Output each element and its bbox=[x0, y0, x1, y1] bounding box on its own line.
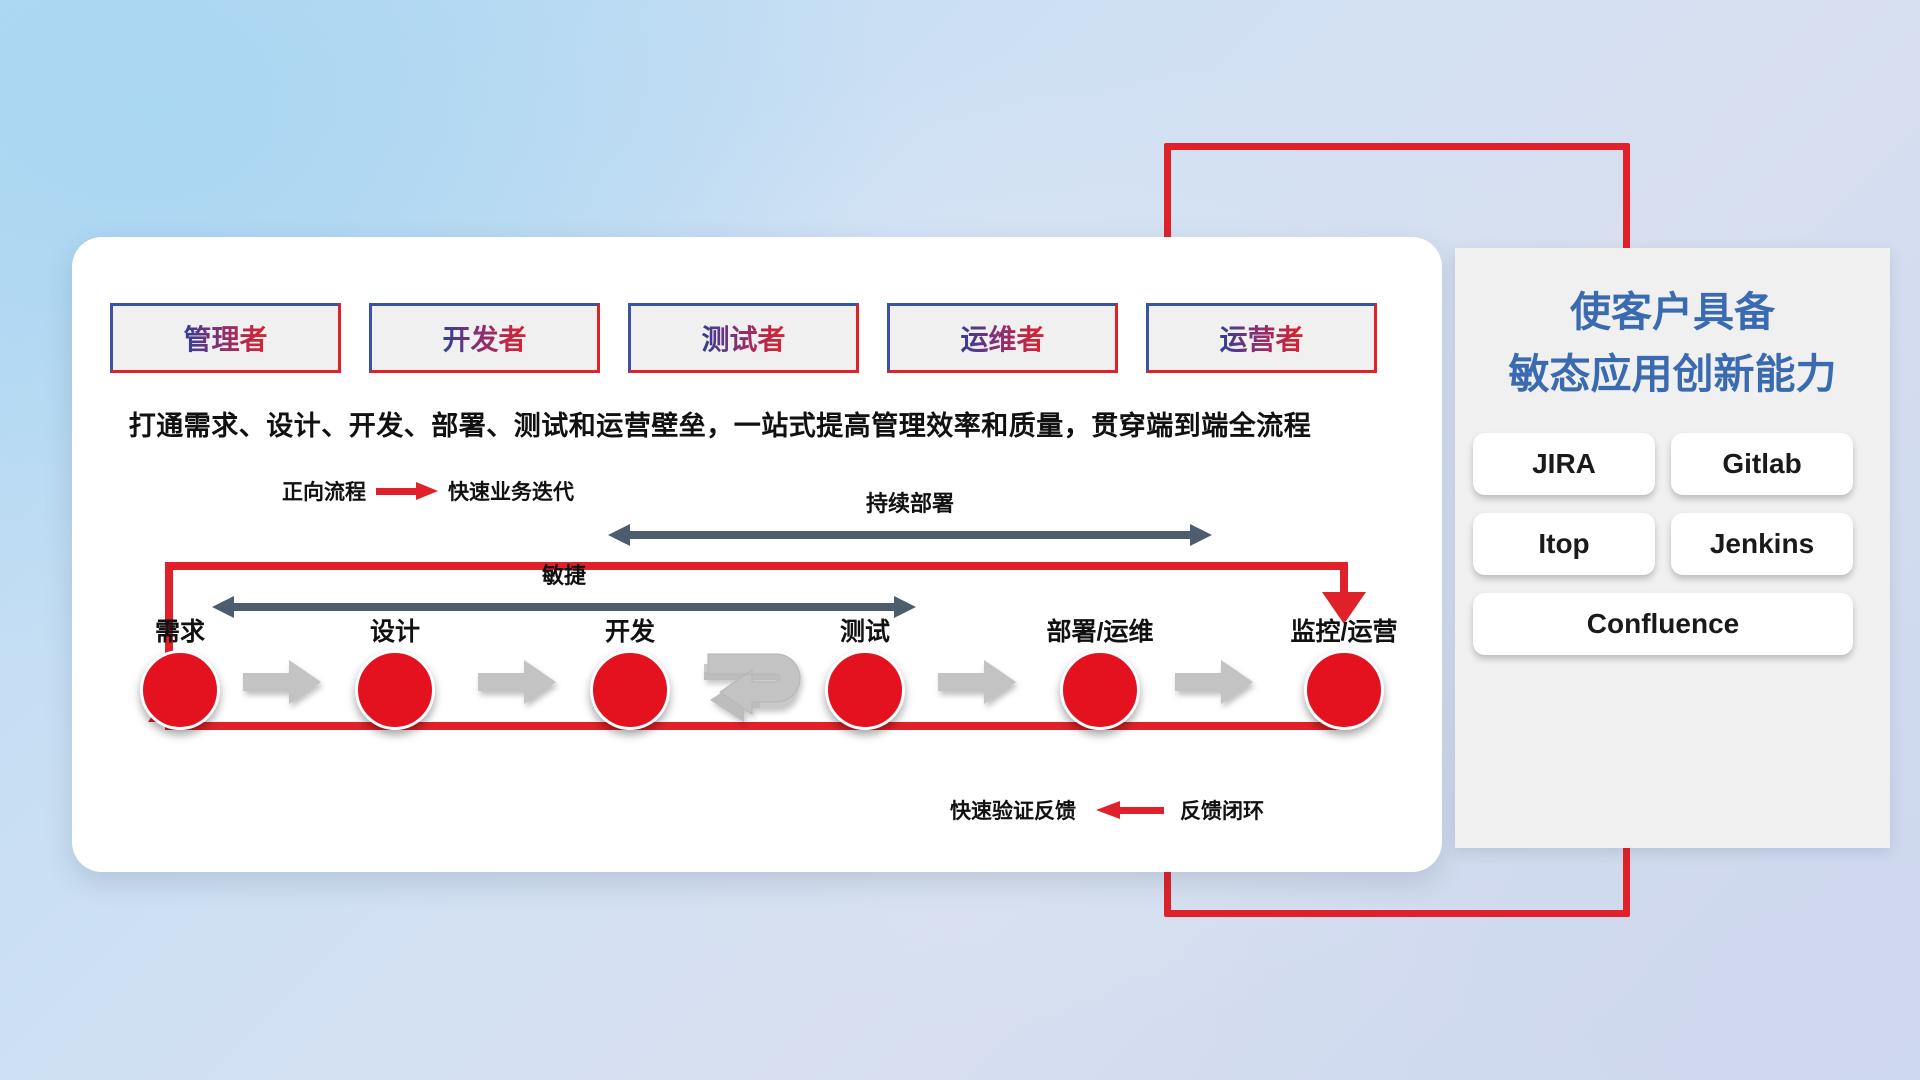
forward-flow-label: 正向流程 bbox=[282, 476, 366, 506]
arrow-left-red-icon bbox=[1092, 801, 1164, 819]
flow-arrow-2-icon bbox=[478, 660, 556, 704]
tool-chip-jira[interactable]: JIRA bbox=[1473, 433, 1655, 495]
flow-arrow-4-icon bbox=[1175, 660, 1253, 704]
slide-canvas: 管理者 开发者 测试者 运维者 运营者 打通需求、设计、开发、部署、测试和运营壁… bbox=[0, 0, 1920, 1080]
forward-flow-legend: 正向流程 快速业务迭代 bbox=[282, 476, 574, 506]
panel-title-line2: 敏态应用创新能力 bbox=[1455, 344, 1890, 406]
tool-chip-jenkins[interactable]: Jenkins bbox=[1671, 513, 1853, 575]
role-box-developer[interactable]: 开发者 bbox=[369, 303, 600, 373]
pipeline-node-dot bbox=[1304, 650, 1384, 730]
fast-iteration-label: 快速业务迭代 bbox=[448, 476, 574, 506]
arrow-right-red-icon bbox=[376, 482, 438, 500]
value-panel: 使客户具备 敏态应用创新能力 JIRA Gitlab Itop Jenkins … bbox=[1455, 248, 1890, 848]
fast-validation-label: 快速验证反馈 bbox=[950, 795, 1076, 825]
pipeline-node-dot bbox=[355, 650, 435, 730]
pipeline-node-dot bbox=[825, 650, 905, 730]
loop-back-icon bbox=[700, 648, 810, 745]
red-loop-right-top bbox=[1340, 562, 1348, 596]
pipeline-node-dot bbox=[140, 650, 220, 730]
role-box-ops[interactable]: 运维者 bbox=[887, 303, 1118, 373]
double-arrow-continuous-deploy bbox=[608, 524, 1212, 546]
feedback-loop-label: 反馈闭环 bbox=[1180, 795, 1264, 825]
pipeline-node-label: 部署/运维 bbox=[1047, 612, 1154, 648]
role-label: 管理者 bbox=[183, 318, 267, 358]
tool-chip-gitlab[interactable]: Gitlab bbox=[1671, 433, 1853, 495]
role-label: 运营者 bbox=[1219, 318, 1303, 358]
pipeline-node-label: 需求 bbox=[155, 612, 205, 648]
double-arrow-agile bbox=[212, 596, 916, 618]
role-box-group: 管理者 开发者 测试者 运维者 运营者 bbox=[110, 303, 1377, 373]
feedback-legend: 快速验证反馈 反馈闭环 bbox=[950, 795, 1264, 825]
headline-text: 打通需求、设计、开发、部署、测试和运营壁垒，一站式提高管理效率和质量，贯穿端到端… bbox=[0, 404, 1440, 443]
span-label-agile: 敏捷 bbox=[214, 558, 914, 590]
pipeline-node-label: 设计 bbox=[370, 612, 420, 648]
tool-chip-confluence[interactable]: Confluence bbox=[1473, 593, 1853, 655]
role-box-tester[interactable]: 测试者 bbox=[628, 303, 859, 373]
role-box-operations[interactable]: 运营者 bbox=[1146, 303, 1377, 373]
pipeline-node-label: 监控/运营 bbox=[1291, 612, 1398, 648]
role-label: 运维者 bbox=[960, 318, 1044, 358]
panel-title: 使客户具备 敏态应用创新能力 bbox=[1455, 282, 1890, 405]
flow-arrow-1-icon bbox=[243, 660, 321, 704]
flow-arrow-3-icon bbox=[938, 660, 1016, 704]
panel-title-line1: 使客户具备 bbox=[1455, 282, 1890, 344]
pipeline-node-label: 测试 bbox=[840, 612, 890, 648]
role-label: 测试者 bbox=[701, 318, 785, 358]
pipeline-node-dot bbox=[1060, 650, 1140, 730]
role-label: 开发者 bbox=[442, 318, 526, 358]
span-label-continuous-deploy: 持续部署 bbox=[610, 486, 1210, 518]
role-box-manager[interactable]: 管理者 bbox=[110, 303, 341, 373]
tool-chip-group: JIRA Gitlab Itop Jenkins Confluence bbox=[1473, 433, 1872, 655]
tool-chip-itop[interactable]: Itop bbox=[1473, 513, 1655, 575]
pipeline-node-dot bbox=[590, 650, 670, 730]
pipeline-node-label: 开发 bbox=[605, 612, 655, 648]
